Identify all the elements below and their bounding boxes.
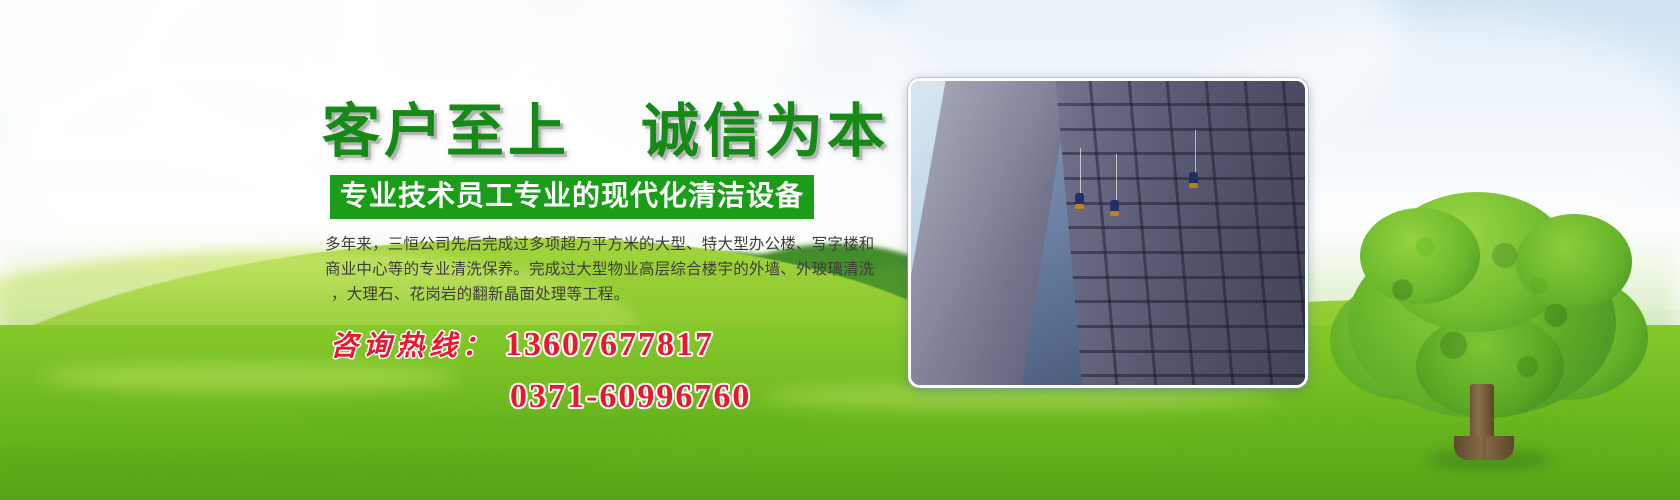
hotline-landline-number[interactable]: 0371-60996760 — [510, 378, 751, 415]
description-line-2: 商业中心等的专业清洗保养。完成过大型物业高层综合楼宇的外墙、外玻璃清洗 — [325, 257, 890, 282]
hotline-primary-row: 咨询热线：13607677817 — [330, 322, 890, 374]
hotline-mobile-number[interactable]: 13607677817 — [505, 326, 714, 363]
hotline-label: 咨询热线： — [330, 331, 495, 362]
headline-part-2: 诚信为本 — [641, 99, 889, 164]
decorative-tree — [1330, 188, 1630, 468]
description-paragraph: 多年来，三恒公司先后完成过多项超万平方米的大型、特大型办公楼、写字楼和 商业中心… — [325, 232, 890, 307]
banner-text-content: 客户至上 诚信为本 专业技术员工专业的现代化清洁设备 多年来，三恒公司先后完成过… — [0, 0, 920, 500]
description-line-3: ，大理石、花岗岩的翻新晶面处理等工程。 — [325, 282, 890, 307]
tagline-bar: 专业技术员工专业的现代化清洁设备 — [330, 175, 814, 219]
building-photo-inner — [911, 81, 1305, 385]
contact-hotline: 咨询热线：13607677817 0371-60996760 — [330, 322, 890, 426]
description-line-1: 多年来，三恒公司先后完成过多项超万平方米的大型、特大型办公楼、写字楼和 — [325, 232, 890, 257]
headline-part-1: 客户至上 — [322, 99, 570, 164]
page-title: 客户至上 诚信为本 — [322, 103, 882, 161]
hotline-secondary-row: 0371-60996760 — [330, 374, 890, 426]
building-photo — [908, 78, 1308, 388]
hero-banner: 客户至上 诚信为本 专业技术员工专业的现代化清洁设备 多年来，三恒公司先后完成过… — [0, 0, 1680, 500]
